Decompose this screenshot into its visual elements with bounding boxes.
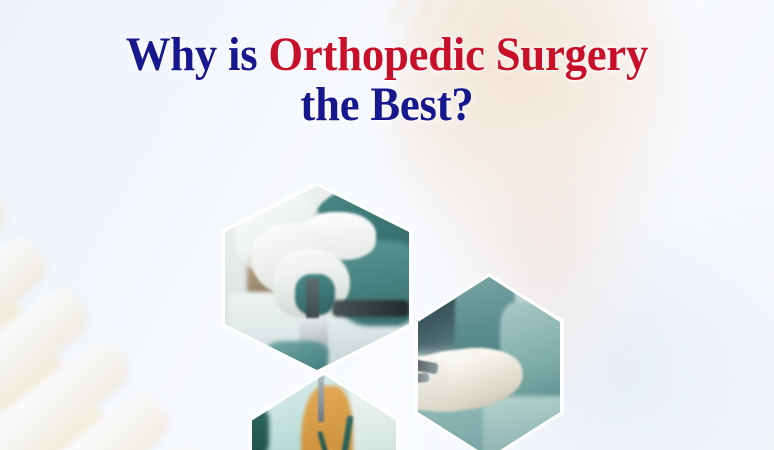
hexagon-surgical-field-iodine xyxy=(248,371,400,450)
surgical-field-iodine-photo xyxy=(252,375,396,450)
gloved-forearm-forceps-photo xyxy=(418,277,560,450)
banner-title: Why is Orthopedic Surgery the Best? xyxy=(27,30,747,130)
hexagon-surgeon-hands-instrument xyxy=(221,182,413,374)
title-red-segment: Orthopedic Surgery xyxy=(268,28,648,81)
title-line-2: the Best? xyxy=(27,80,747,130)
hexagon-gloved-forearm-forceps xyxy=(414,273,564,450)
surgeon-hands-instrument-photo xyxy=(225,186,409,370)
orthopedic-surgery-banner: Why is Orthopedic Surgery the Best? xyxy=(0,0,774,450)
title-navy-segment: Why is xyxy=(126,28,269,81)
title-line-1: Why is Orthopedic Surgery xyxy=(27,30,747,80)
